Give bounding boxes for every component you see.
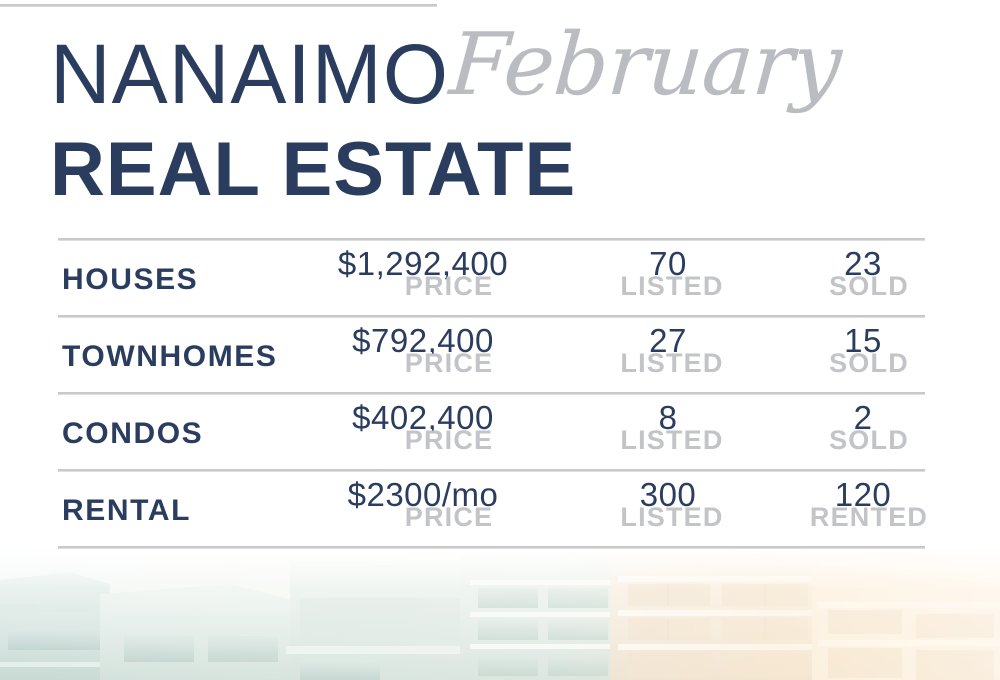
stat-cell-listed: 27LISTED xyxy=(573,324,763,377)
stat-cell-listed: 8LISTED xyxy=(573,401,763,454)
sold-label: SOLD xyxy=(774,427,964,454)
month-title: February xyxy=(447,22,843,108)
city-title: NANAIMO xyxy=(50,32,449,116)
price-label: PRICE xyxy=(324,504,574,531)
row-category-label: TOWNHOMES xyxy=(62,340,278,374)
sold-label: RENTED xyxy=(774,504,964,531)
stat-cell-price: $1,292,400PRICE xyxy=(298,247,548,300)
real-estate-stats-poster: NANAIMO February REAL ESTATE HOUSES$1,29… xyxy=(0,0,1000,680)
stat-cell-price: $792,400PRICE xyxy=(298,324,548,377)
row-category-label: RENTAL xyxy=(62,494,191,528)
row-divider xyxy=(58,546,925,549)
headline-line-one: NANAIMO February xyxy=(50,36,950,128)
stat-cell-sold: 120RENTED xyxy=(768,478,958,531)
listed-label: LISTED xyxy=(577,504,767,531)
listed-label: LISTED xyxy=(577,427,767,454)
price-label: PRICE xyxy=(324,350,574,377)
stat-cell-sold: 23SOLD xyxy=(768,247,958,300)
sold-label: SOLD xyxy=(774,273,964,300)
stat-cell-listed: 70LISTED xyxy=(573,247,763,300)
stat-cell-price: $402,400PRICE xyxy=(298,401,548,454)
table-row: TOWNHOMES$792,400PRICE27LISTED15SOLD xyxy=(58,318,925,392)
stat-cell-price: $2300/moPRICE xyxy=(298,478,548,531)
stat-cell-listed: 300LISTED xyxy=(573,478,763,531)
stat-cell-sold: 15SOLD xyxy=(768,324,958,377)
stat-cell-sold: 2SOLD xyxy=(768,401,958,454)
price-label: PRICE xyxy=(324,427,574,454)
table-row: CONDOS$402,400PRICE8LISTED2SOLD xyxy=(58,395,925,469)
price-label: PRICE xyxy=(324,273,574,300)
table-row: RENTAL$2300/moPRICE300LISTED120RENTED xyxy=(58,472,925,546)
listed-label: LISTED xyxy=(577,273,767,300)
row-category-label: HOUSES xyxy=(62,263,198,297)
building-photo xyxy=(0,550,1000,680)
headline-block: NANAIMO February REAL ESTATE xyxy=(50,36,950,216)
table-row: HOUSES$1,292,400PRICE70LISTED23SOLD xyxy=(58,241,925,315)
stats-table: HOUSES$1,292,400PRICE70LISTED23SOLDTOWNH… xyxy=(58,238,925,549)
top-rule-divider xyxy=(0,4,437,7)
row-category-label: CONDOS xyxy=(62,417,203,451)
page-title: REAL ESTATE xyxy=(50,132,576,208)
listed-label: LISTED xyxy=(577,350,767,377)
sold-label: SOLD xyxy=(774,350,964,377)
